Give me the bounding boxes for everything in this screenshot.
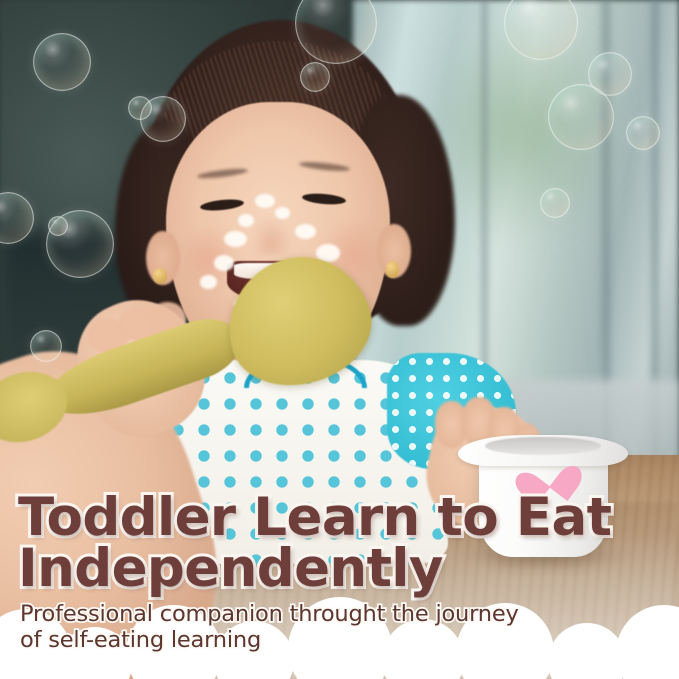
headline-line-2: Independently	[18, 544, 663, 593]
subheadline-line-1: Professional companion throught the jour…	[20, 601, 620, 627]
poster-subheadline: Professional companion throught the jour…	[20, 601, 620, 654]
yogurt-speck-4	[295, 224, 315, 239]
bubble-right-big	[548, 84, 614, 150]
right-earring	[386, 261, 400, 277]
bubble-center-upper	[128, 96, 152, 120]
poster-headline: Toddler Learn to Eat Independently	[18, 493, 663, 594]
headline-line-1: Toddler Learn to Eat	[18, 493, 663, 542]
bubble-right-edge	[626, 116, 660, 150]
nose	[251, 214, 292, 255]
yogurt-speck-11	[200, 275, 216, 289]
bubble-bottom-left	[48, 216, 68, 236]
product-lifestyle-poster: Toddler Learn to Eat Independently Profe…	[0, 0, 679, 679]
yogurt-speck-6	[214, 255, 234, 271]
bubble-left-small	[30, 330, 62, 362]
bubble-right-low	[540, 188, 570, 218]
bubble-mid-center	[300, 62, 330, 92]
subheadline-line-2: of self-eating learning	[20, 627, 620, 653]
bowl-inner-cavity	[485, 437, 600, 455]
bubble-top-left	[33, 33, 91, 91]
